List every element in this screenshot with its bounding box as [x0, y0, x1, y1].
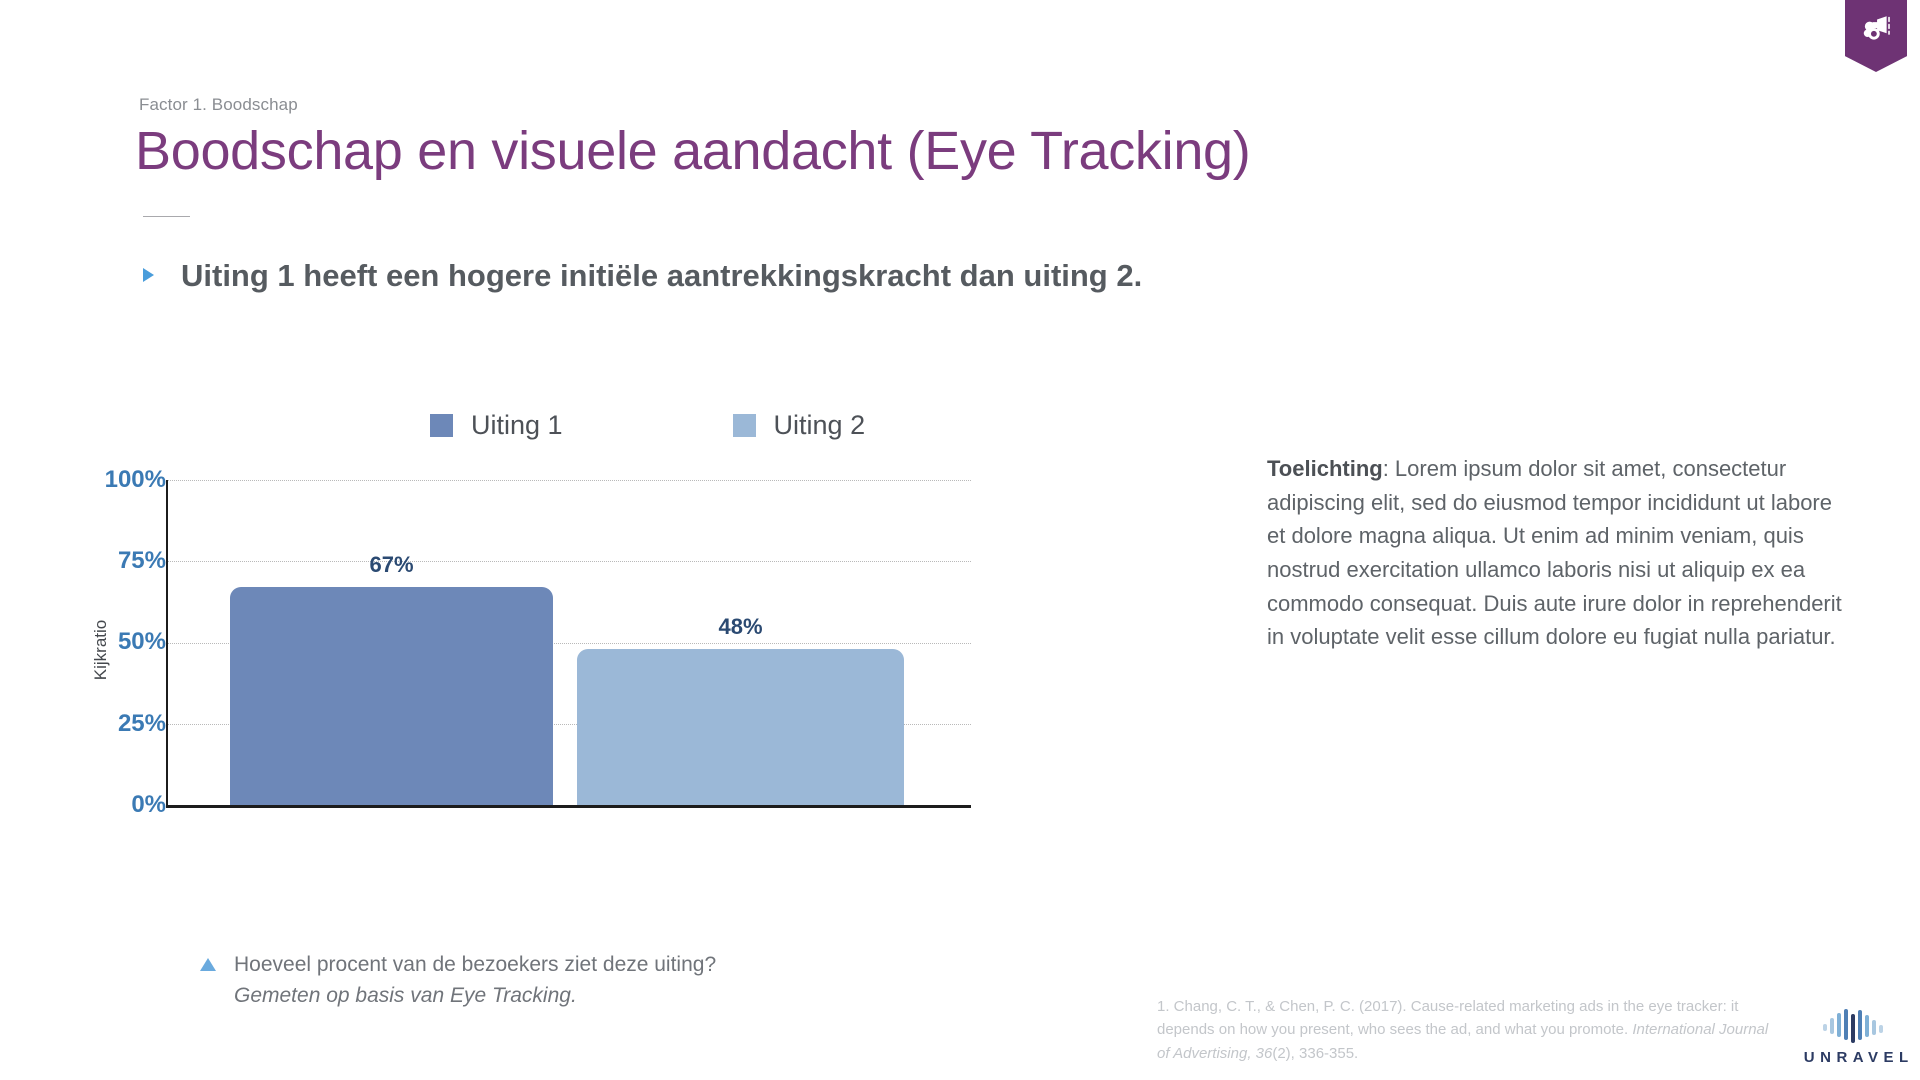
- bar-value-label: 48%: [577, 614, 904, 640]
- ribbon-badge: [1845, 0, 1907, 72]
- title-divider: [143, 216, 190, 217]
- legend-label: Uiting 2: [774, 410, 866, 441]
- unravel-wordmark: UNRAVEL: [1798, 1049, 1914, 1066]
- y-tick-label: 25%: [80, 710, 166, 738]
- legend-swatch-icon: [733, 414, 756, 437]
- bar-chart: Kijkratio 100% 75% 50% 25% 0% 67% 48%: [80, 480, 1200, 900]
- explanation-lead: Toelichting: [1267, 456, 1383, 481]
- y-tick-label: 100%: [80, 466, 166, 494]
- unravel-logo: UNRAVEL: [1798, 1008, 1914, 1066]
- bar-uiting-2[interactable]: [577, 649, 904, 805]
- citation-footnote: 1. Chang, C. T., & Chen, P. C. (2017). C…: [1157, 995, 1782, 1065]
- soundwave-bars-icon: [1821, 1008, 1891, 1044]
- legend-swatch-icon: [430, 414, 453, 437]
- legend-item-uiting-1[interactable]: Uiting 1: [430, 410, 563, 441]
- y-tick-label: 75%: [80, 547, 166, 575]
- page-title: Boodschap en visuele aandacht (Eye Track…: [135, 120, 1250, 182]
- y-tick-label: 0%: [80, 791, 166, 819]
- eyebrow-label: Factor 1. Boodschap: [139, 95, 298, 115]
- megaphone-icon: [1859, 12, 1893, 46]
- explanation-body: : Lorem ipsum dolor sit amet, consectetu…: [1267, 456, 1842, 649]
- headline-bullet-row: Uiting 1 heeft een hogere initiële aantr…: [143, 252, 1323, 299]
- y-tick-label: 50%: [80, 628, 166, 656]
- x-axis-line: [166, 805, 971, 808]
- chart-footnote-line-1: Hoeveel procent van de bezoekers ziet de…: [234, 950, 716, 981]
- legend-item-uiting-2[interactable]: Uiting 2: [733, 410, 866, 441]
- citation-part-2: (2), 336-355.: [1272, 1045, 1358, 1062]
- headline-text: Uiting 1 heeft een hogere initiële aantr…: [181, 252, 1142, 299]
- triangle-right-icon: [143, 268, 154, 282]
- triangle-up-icon: [200, 958, 216, 971]
- chart-legend: Uiting 1 Uiting 2: [430, 410, 865, 441]
- legend-label: Uiting 1: [471, 410, 563, 441]
- bar-uiting-1[interactable]: [230, 587, 553, 805]
- explanation-panel: Toelichting: Lorem ipsum dolor sit amet,…: [1267, 452, 1842, 654]
- chart-footnote-line-2: Gemeten op basis van Eye Tracking.: [234, 981, 716, 1012]
- bar-value-label: 67%: [230, 552, 553, 578]
- chart-footnote: Hoeveel procent van de bezoekers ziet de…: [200, 950, 716, 1011]
